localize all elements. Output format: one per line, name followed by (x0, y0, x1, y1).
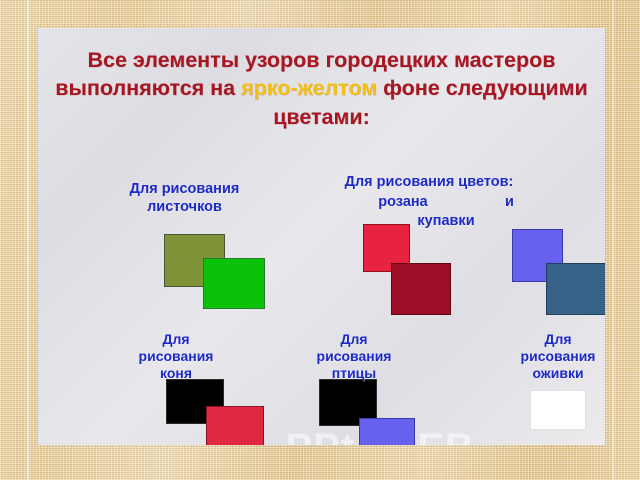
heading-leaves: Для рисования листочков (82, 181, 287, 216)
heading-leaves-line2: листочков (147, 199, 222, 215)
heading-flowers-rozana: розана (378, 194, 427, 210)
heading-bird-line1: Для (340, 331, 367, 347)
heading-bird: Для рисования птицы (292, 331, 416, 382)
swatch-bright-green (203, 258, 265, 309)
heading-bird-line2: рисования (317, 348, 392, 364)
swatch-steel-blue (546, 263, 605, 315)
slide-canvas: PPt4WEB Все элементы узоров городецких м… (0, 0, 640, 480)
swatch-periwinkle-blue-bird (359, 418, 415, 445)
heading-flowers-row2: розана и купавки (300, 194, 558, 231)
swatch-dark-red (391, 263, 451, 315)
heading-ozhivka-line1: Для (544, 331, 571, 347)
content-panel: PPt4WEB Все элементы узоров городецких м… (38, 28, 605, 445)
heading-flowers-and: и (505, 194, 514, 212)
title-highlight: ярко-желтом (241, 76, 377, 100)
heading-ozhivka-line2: рисования (521, 348, 596, 364)
heading-horse-line1: Для (162, 331, 189, 347)
heading-ozhivka-line3: оживки (532, 365, 583, 381)
swatch-crimson-red-horse (206, 406, 264, 445)
heading-leaves-line1: Для рисования (130, 181, 240, 197)
heading-horse: Для рисования коня (114, 331, 238, 382)
heading-horse-line2: рисования (139, 348, 214, 364)
page-title: Все элементы узоров городецких мастеров … (50, 46, 593, 131)
heading-bird-line3: птицы (332, 365, 376, 381)
swatch-white (530, 390, 586, 430)
heading-ozhivka: Для рисования оживки (490, 331, 605, 382)
heading-horse-line3: коня (160, 365, 192, 381)
heading-flowers-line1: Для рисования цветов: (345, 174, 514, 190)
heading-flowers: Для рисования цветов: розана и купавки (300, 174, 558, 231)
